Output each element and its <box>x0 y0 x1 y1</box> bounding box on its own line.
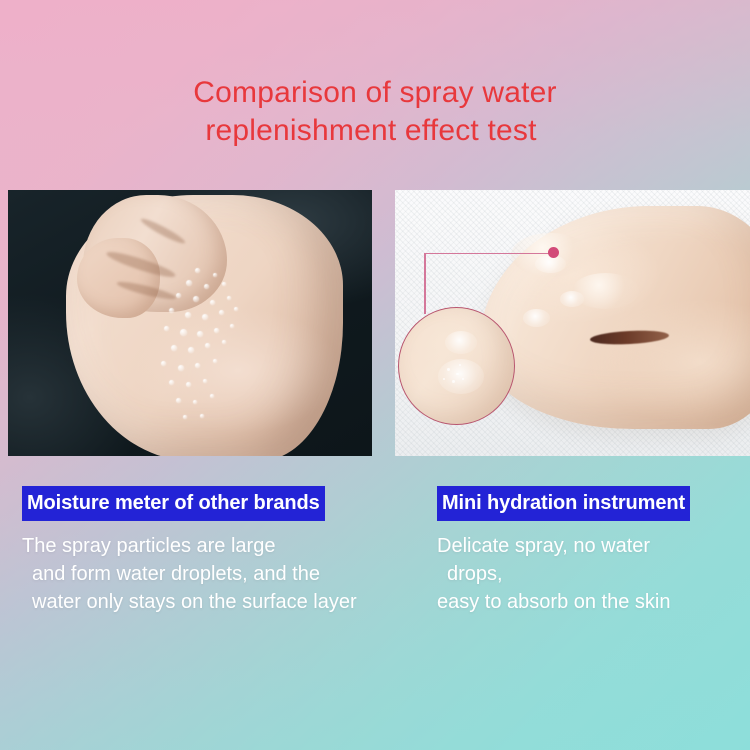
magnified-mist-patch <box>438 359 484 394</box>
body-line: Delicate spray, no water <box>437 532 742 560</box>
body-line: drops, <box>437 560 742 588</box>
skin-sheen <box>560 291 584 307</box>
thumb <box>77 238 160 318</box>
body-line: The spray particles are large <box>22 532 397 560</box>
skin-sheen <box>535 255 566 273</box>
magnifier-circle <box>398 307 515 425</box>
product-comparison-poster: Comparison of spray water replenishment … <box>0 0 750 750</box>
caption-other-brands: Moisture meter of other brands The spray… <box>22 486 397 616</box>
water-droplets-cluster <box>149 264 271 440</box>
body-line: water only stays on the surface layer <box>22 588 397 616</box>
poster-title: Comparison of spray water replenishment … <box>0 74 750 150</box>
title-line-2: replenishment effect test <box>0 112 750 150</box>
skin-sheen <box>523 309 550 327</box>
photo-mini-hydration <box>395 190 750 456</box>
body-line: easy to absorb on the skin <box>437 588 742 616</box>
body-line: and form water droplets, and the <box>22 560 397 588</box>
body-other-brands: The spray particles are large and form w… <box>22 532 397 616</box>
annotation-leader-line-vertical <box>424 253 426 314</box>
hand-back <box>480 206 750 429</box>
finger-gap <box>590 329 670 347</box>
label-other-brands: Moisture meter of other brands <box>22 486 325 521</box>
hand-fist <box>66 195 343 456</box>
body-mini-hydration: Delicate spray, no water drops, easy to … <box>437 532 742 616</box>
annotation-leader-line-horizontal <box>424 253 555 255</box>
title-line-1: Comparison of spray water <box>0 74 750 112</box>
caption-mini-hydration: Mini hydration instrument Delicate spray… <box>437 486 742 616</box>
photo-other-brands <box>8 190 372 456</box>
label-mini-hydration: Mini hydration instrument <box>437 486 690 521</box>
magnified-sheen <box>445 331 477 354</box>
